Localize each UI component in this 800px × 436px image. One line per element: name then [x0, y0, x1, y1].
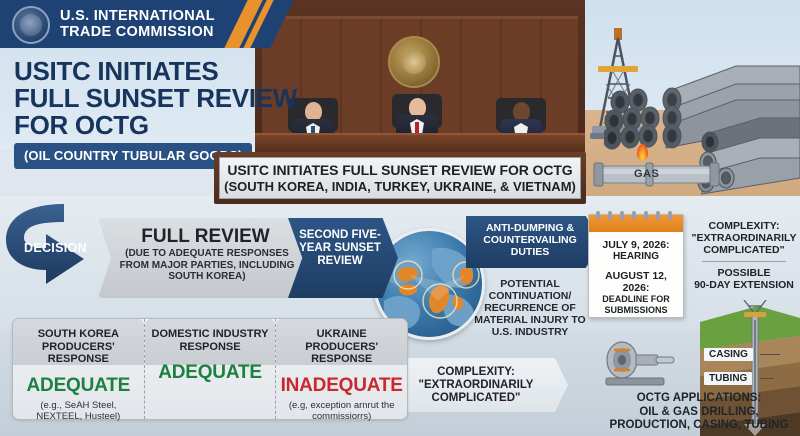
- tubing-label: TUBING: [704, 372, 752, 385]
- card-verdict: ADEQUATE: [145, 362, 276, 384]
- card-header-line-2: RESPONSE: [145, 341, 276, 354]
- responses-card-group: SOUTH KOREA PRODUCERS' RESPONSE ADEQUATE…: [12, 318, 408, 420]
- card-header-line-3: RESPONSE: [276, 353, 407, 366]
- org-line-1: U.S. INTERNATIONAL: [60, 8, 215, 24]
- title-line-3: FOR OCTG: [14, 112, 297, 139]
- deadline-label-1: DEADLINE FOR: [593, 294, 679, 305]
- seal-inner-emblem: [402, 50, 426, 74]
- decision-label: DECISION: [24, 241, 87, 255]
- org-line-2: TRADE COMMISSION: [60, 24, 215, 40]
- organization-name: U.S. INTERNATIONAL TRADE COMMISSION: [60, 8, 215, 40]
- pump-motor-icon: [600, 338, 680, 390]
- applications-line-1: OCTG APPLICATIONS:: [598, 392, 800, 406]
- hearing-label: HEARING: [593, 251, 679, 262]
- gas-pipe-label: GAS: [634, 168, 659, 180]
- calendar-header: [589, 215, 683, 232]
- card-header-line-1: DOMESTIC INDUSTRY: [145, 328, 276, 341]
- title-line-2: FULL SUNSET REVIEW: [14, 85, 297, 112]
- calendar-icon: JULY 9, 2026: HEARING AUGUST 12, 2026: D…: [588, 214, 684, 318]
- flame-icon: [637, 144, 648, 160]
- card-header: SOUTH KOREA PRODUCERS' RESPONSE: [13, 328, 144, 366]
- response-card-south-korea: SOUTH KOREA PRODUCERS' RESPONSE ADEQUATE…: [13, 319, 144, 419]
- sunset-review-label: SECOND FIVE-YEAR SUNSET REVIEW: [294, 229, 386, 268]
- response-card-domestic-industry: DOMESTIC INDUSTRY RESPONSE ADEQUATE: [144, 319, 276, 419]
- full-review-subtitle: (DUE TO ADEQUATE RESPONSES FROM MAJOR PA…: [112, 248, 302, 283]
- card-header-line-1: SOUTH KOREA: [13, 328, 144, 341]
- casing-label: CASING: [704, 348, 753, 361]
- full-review-title: FULL REVIEW: [118, 226, 293, 248]
- card-note: (e.g., SeAH Steel, NEXTEEL, Husteel): [13, 400, 144, 422]
- card-header-line-1: UKRAINE: [276, 328, 407, 341]
- complexity-bottom-line-2: "EXTRAORDINARILY: [419, 379, 544, 391]
- calendar-dates: JULY 9, 2026: HEARING AUGUST 12, 2026: D…: [589, 232, 683, 315]
- casing-leader-line: [760, 354, 780, 355]
- banner-line-1: USITC INITIATES FULL SUNSET REVIEW FOR O…: [227, 162, 572, 178]
- card-header: DOMESTIC INDUSTRY RESPONSE: [145, 328, 276, 353]
- banner-line-2: (SOUTH KOREA, INDIA, TURKEY, UKRAINE, & …: [224, 179, 576, 194]
- deadline-date: AUGUST 12, 2026:: [593, 270, 679, 294]
- complexity-right-line-3: COMPLICATED": [688, 244, 800, 256]
- card-header-line-2: PRODUCERS': [276, 341, 407, 354]
- extension-line-2: 90-DAY EXTENSION: [688, 279, 800, 291]
- response-card-ukraine: UKRAINE PRODUCERS' RESPONSE INADEQUATE (…: [275, 319, 407, 419]
- applications-line-2: OIL & GAS DRILLING,: [598, 406, 800, 420]
- complexity-bottom-ribbon: COMPLEXITY: "EXTRAORDINARILY COMPLICATED…: [404, 358, 568, 412]
- card-header-line-3: RESPONSE: [13, 353, 144, 366]
- octg-applications-text: OCTG APPLICATIONS: OIL & GAS DRILLING, P…: [598, 392, 800, 433]
- complexity-bottom-line-1: COMPLEXITY:: [437, 366, 525, 378]
- complexity-bottom-text: COMPLEXITY: "EXTRAORDINARILY COMPLICATED…: [419, 366, 554, 405]
- title-line-1: USITC INITIATES: [14, 58, 297, 85]
- complexity-right-line-2: "EXTRAORDINARILY: [688, 232, 800, 244]
- card-note: (e.g, exception arnrut the commissiorrs): [276, 400, 407, 422]
- complexity-bottom-line-3: COMPLICATED": [432, 392, 531, 404]
- card-header: UKRAINE PRODUCERS' RESPONSE: [276, 328, 407, 366]
- hearing-date: JULY 9, 2026:: [593, 239, 679, 251]
- infographic-canvas: GAS U.S. INTERNATIONAL TRADE COMMISSION …: [0, 0, 800, 436]
- tubing-leader-line: [760, 378, 774, 379]
- complexity-right-line-1: COMPLEXITY:: [688, 220, 800, 232]
- main-banner: USITC INITIATES FULL SUNSET REVIEW FOR O…: [219, 157, 581, 199]
- card-verdict: INADEQUATE: [276, 375, 407, 397]
- material-injury-label: POTENTIAL CONTINUATION/ RECURRENCE OF MA…: [466, 278, 594, 338]
- main-banner-frame: USITC INITIATES FULL SUNSET REVIEW FOR O…: [214, 152, 586, 204]
- page-title: USITC INITIATES FULL SUNSET REVIEW FOR O…: [14, 58, 297, 139]
- divider: [702, 261, 786, 262]
- complexity-right-block: COMPLEXITY: "EXTRAORDINARILY COMPLICATED…: [688, 220, 800, 291]
- usitc-courtroom-seal-icon: [388, 36, 440, 88]
- applications-line-3: PRODUCTION, CASING, TUBING: [598, 419, 800, 433]
- deadline-label-2: SUBMISSIONS: [593, 305, 679, 316]
- extension-line-1: POSSIBLE: [688, 267, 800, 279]
- seal-eagle-emblem: [20, 14, 42, 36]
- usitc-seal-icon: [12, 6, 50, 44]
- antidumping-duties-label: ANTI-DUMPING & COUNTERVAILING DUTIES: [470, 222, 590, 258]
- card-verdict: ADEQUATE: [13, 375, 144, 397]
- card-header-line-2: PRODUCERS': [13, 341, 144, 354]
